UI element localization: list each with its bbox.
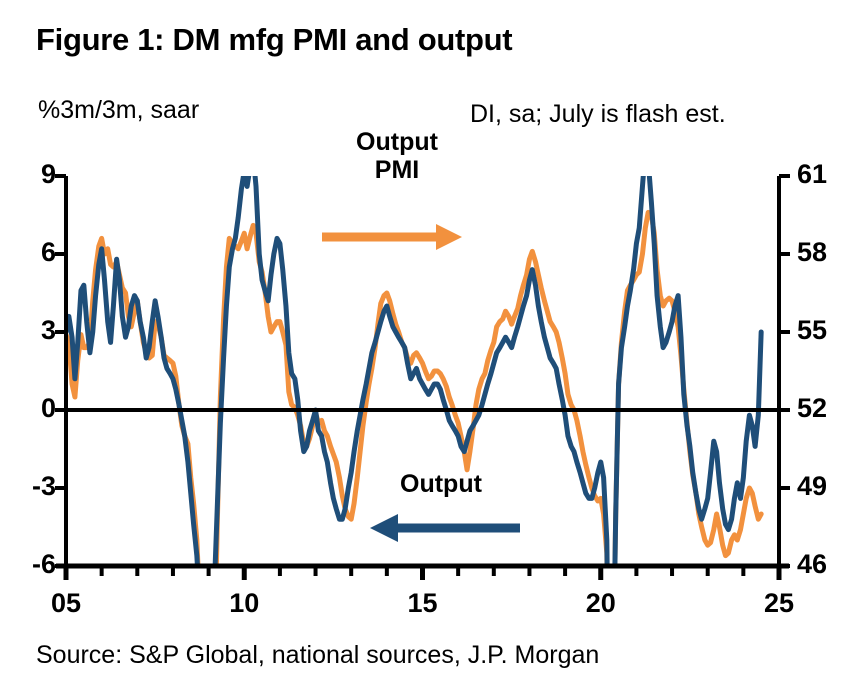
source-note: Source: S&P Global, national sources, J.…	[36, 641, 599, 670]
left-axis-label: -3	[4, 471, 56, 502]
right-axis-unit-label: DI, sa; July is flash est.	[470, 100, 726, 129]
left-axis-label: 0	[4, 393, 56, 424]
right-axis-label: 61	[797, 159, 852, 190]
left-axis-label: 9	[4, 159, 56, 190]
left-axis-unit-label: %3m/3m, saar	[38, 96, 199, 125]
arrow-output-left	[370, 514, 520, 542]
arrow-head	[370, 514, 398, 542]
x-axis-label: 10	[214, 588, 274, 619]
left-axis-label: 6	[4, 237, 56, 268]
x-axis-label: 15	[393, 588, 453, 619]
left-axis-label: 3	[4, 315, 56, 346]
annotation-output-pmi: Output PMI	[327, 128, 467, 184]
annotation-output: Output	[400, 470, 482, 499]
right-axis-label: 46	[797, 549, 852, 580]
x-axis-label: 05	[36, 588, 96, 619]
page-title: Figure 1: DM mfg PMI and output	[36, 22, 512, 58]
x-axis-label: 25	[749, 588, 809, 619]
arrow-head	[436, 224, 462, 250]
right-axis-label: 58	[797, 237, 852, 268]
right-axis-label: 49	[797, 471, 852, 502]
right-axis-label: 52	[797, 393, 852, 424]
arrow-output-pmi-right	[322, 224, 462, 250]
left-axis-label: -6	[4, 549, 56, 580]
x-axis-label: 20	[571, 588, 631, 619]
right-axis-label: 55	[797, 315, 852, 346]
figure-container: Figure 1: DM mfg PMI and output %3m/3m, …	[0, 0, 852, 689]
